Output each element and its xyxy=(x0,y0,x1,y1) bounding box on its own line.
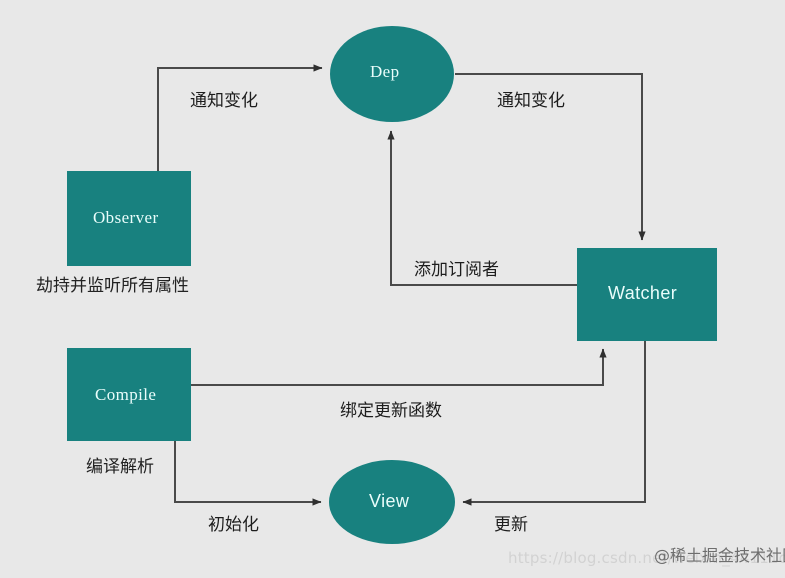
edge-compile-to-watcher xyxy=(191,349,603,385)
edge-observer-to-dep xyxy=(158,68,322,171)
node-compile[interactable] xyxy=(67,348,191,441)
node-watcher[interactable] xyxy=(577,248,717,341)
diagram-graphics xyxy=(0,0,785,578)
node-dep[interactable] xyxy=(330,26,454,122)
edge-watcher-to-dep xyxy=(391,131,577,285)
diagram-canvas: Dep Observer Watcher Compile View 劫持并监听所… xyxy=(0,0,785,578)
edge-compile-to-view xyxy=(175,441,321,502)
node-view[interactable] xyxy=(329,460,455,544)
edge-dep-to-watcher xyxy=(455,74,642,240)
node-observer[interactable] xyxy=(67,171,191,266)
edge-watcher-to-view xyxy=(463,341,645,502)
